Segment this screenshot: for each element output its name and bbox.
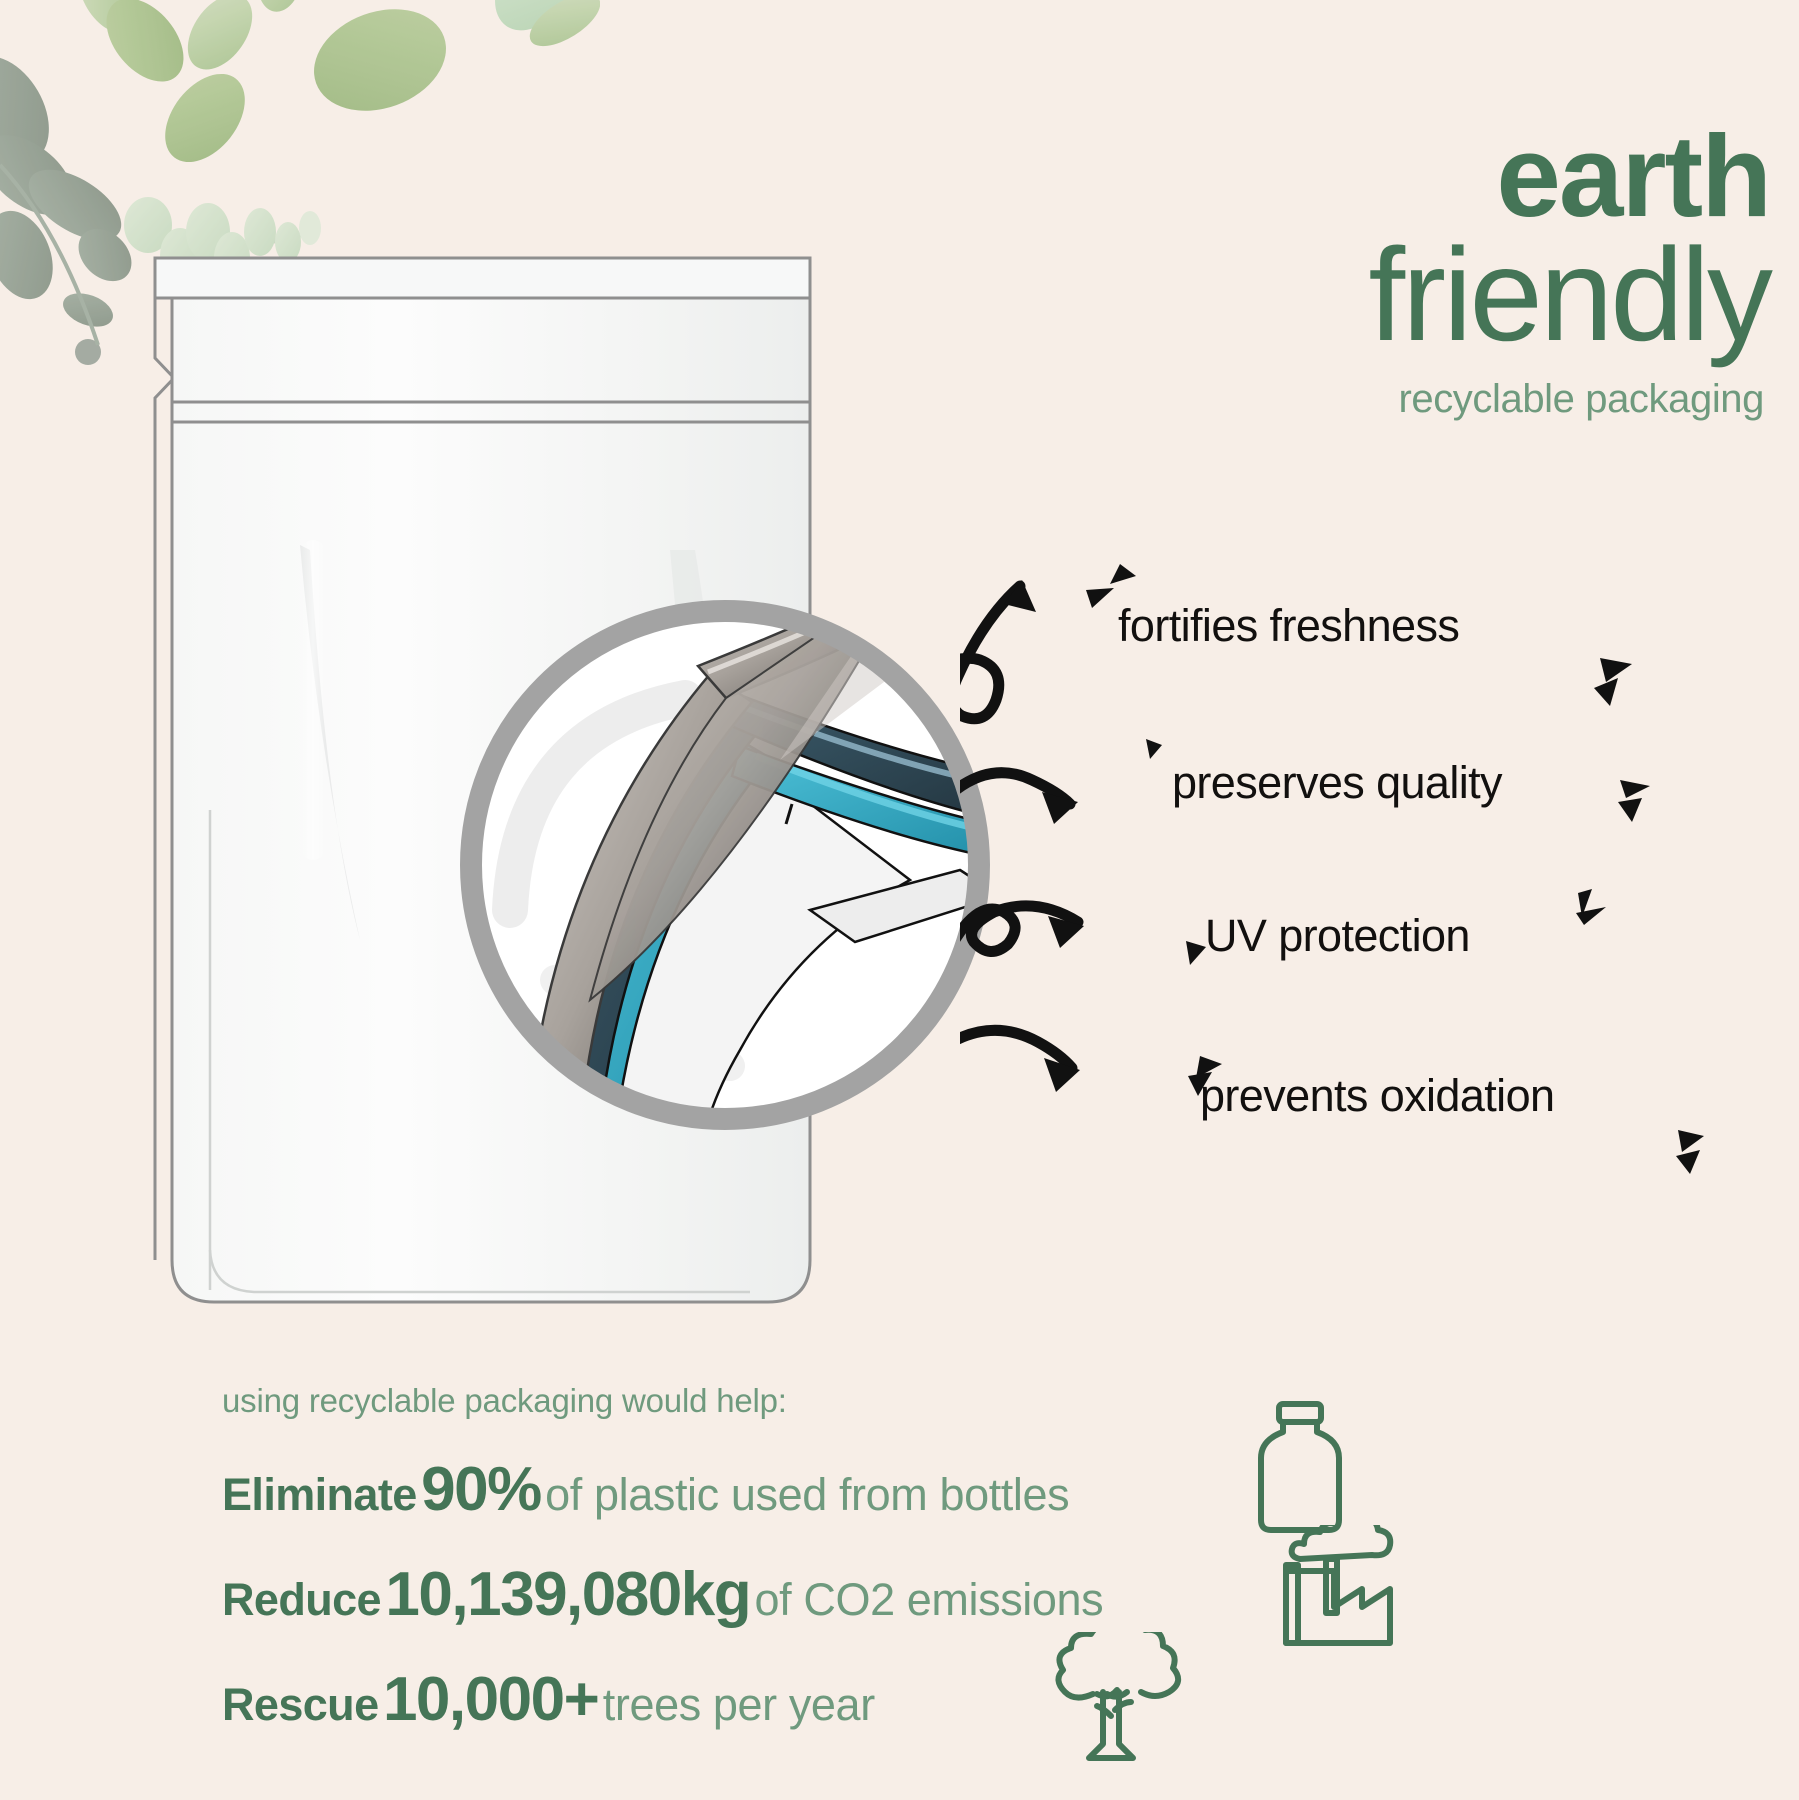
headline-line-1: earth — [900, 118, 1770, 234]
feature-label-preserves-quality: preserves quality — [1172, 757, 1502, 809]
feature-label-prevents-oxidation: prevents oxidation — [1200, 1070, 1554, 1122]
infographic-canvas: earth friendly recyclable packaging fort… — [0, 0, 1799, 1800]
magnified-layer-cross-section — [440, 580, 1010, 1150]
sparkle-icon — [1608, 772, 1668, 832]
sparkle-icon — [1562, 885, 1622, 945]
factory-icon — [1280, 1525, 1410, 1650]
stat-number: 10,139,080kg — [385, 1560, 750, 1629]
stat-verb: Rescue — [222, 1679, 379, 1730]
tree-icon — [1035, 1632, 1185, 1772]
stat-row: Reduce 10,139,080kg of CO2 emissions — [222, 1559, 1222, 1630]
stat-tail: of CO2 emissions — [755, 1574, 1104, 1625]
stat-tail: of plastic used from bottles — [545, 1469, 1069, 1520]
bottle-icon — [1245, 1400, 1355, 1540]
stat-row: Eliminate 90% of plastic used from bottl… — [222, 1454, 1222, 1525]
feature-label-uv-protection: UV protection — [1205, 910, 1470, 962]
headline-subtitle: recyclable packaging — [900, 377, 1770, 422]
stats-intro: using recyclable packaging would help: — [222, 1382, 1222, 1420]
leaf-cluster-olive — [67, 0, 600, 177]
sparkle-icon — [1660, 1122, 1720, 1182]
stat-number: 10,000+ — [383, 1665, 598, 1734]
stat-verb: Eliminate — [222, 1469, 417, 1520]
stat-tail: trees per year — [603, 1679, 875, 1730]
feature-label-fortifies-freshness: fortifies freshness — [1118, 600, 1459, 652]
headline-line-2: friendly — [900, 228, 1770, 363]
leaf-cluster-eucalyptus — [0, 41, 142, 365]
sparkle-icon — [1580, 648, 1650, 728]
stat-number: 90% — [421, 1455, 541, 1524]
page-title: earth friendly recyclable packaging — [900, 118, 1770, 422]
stat-verb: Reduce — [222, 1574, 381, 1625]
